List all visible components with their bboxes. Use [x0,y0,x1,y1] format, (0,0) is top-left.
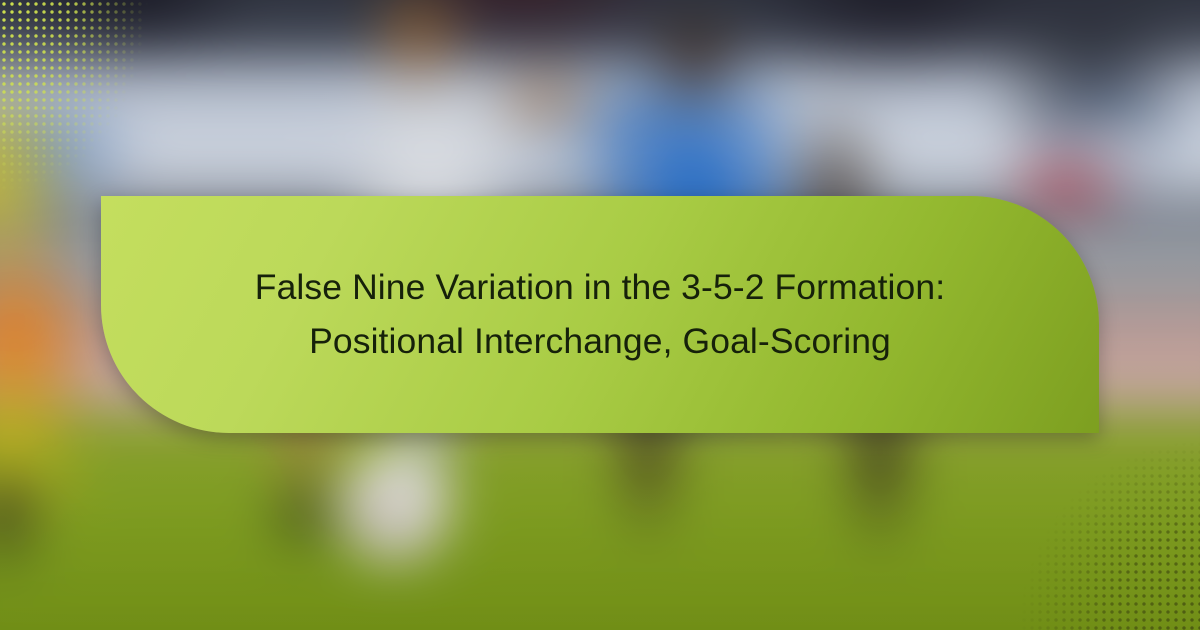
title-card: False Nine Variation in the 3-5-2 Format… [101,196,1099,433]
page-title-line-2: Positional Interchange, Goal-Scoring [255,315,945,369]
social-card-stage: False Nine Variation in the 3-5-2 Format… [0,0,1200,630]
page-title-line-1: False Nine Variation in the 3-5-2 Format… [255,261,945,315]
page-title: False Nine Variation in the 3-5-2 Format… [255,261,945,369]
